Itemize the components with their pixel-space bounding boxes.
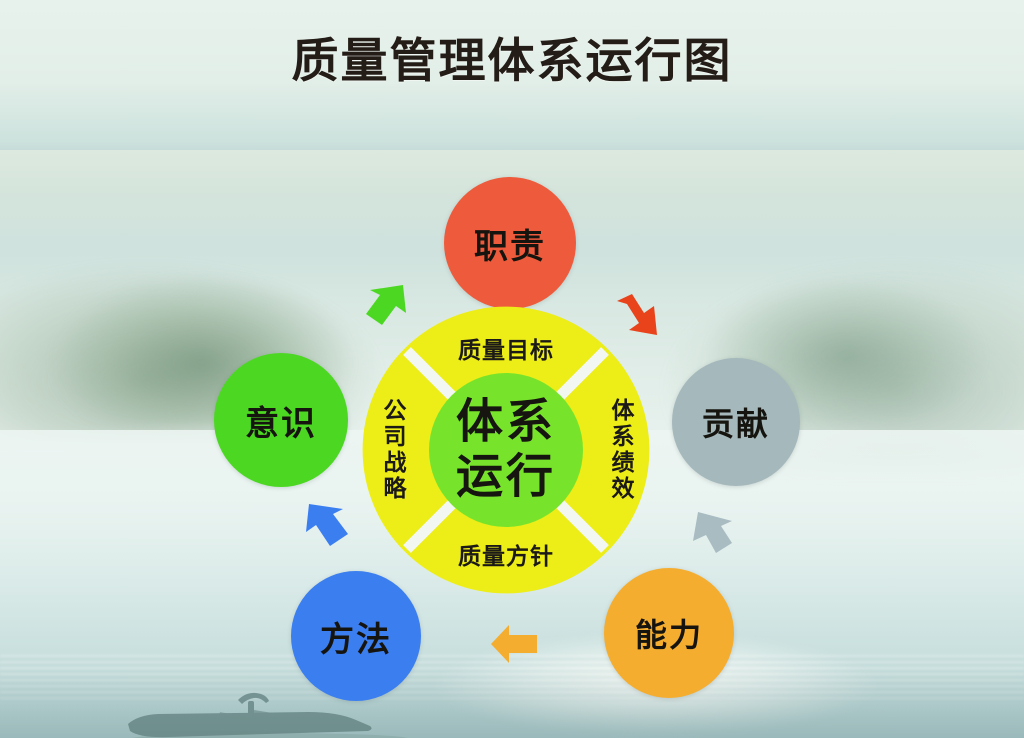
arrow-gray-down-left xyxy=(688,504,744,558)
ring-label-top: 质量目标 xyxy=(357,331,655,365)
node-zhize-label: 职责 xyxy=(474,219,546,268)
page-title: 质量管理体系运行图 xyxy=(0,37,1024,86)
node-gongxian[interactable]: 贡献 xyxy=(672,358,800,486)
ring-label-left: 公司战略 xyxy=(375,398,409,502)
node-zhize[interactable]: 职责 xyxy=(444,177,576,309)
ring-label-right: 体系绩效 xyxy=(603,398,637,502)
core-label-line2: 运行 xyxy=(456,450,556,505)
arrow-blue-up-left xyxy=(298,500,354,556)
node-yishi-label: 意识 xyxy=(245,396,317,445)
node-fangfa-label: 方法 xyxy=(320,612,392,661)
slide-canvas: 质量管理体系运行图 职责 贡献 能力 方法 xyxy=(0,0,1024,738)
node-nengli-label: 能力 xyxy=(635,610,703,656)
node-yishi[interactable]: 意识 xyxy=(214,353,348,487)
central-wheel: 质量目标 体系绩效 质量方针 公司战略 体系 运行 xyxy=(357,301,655,599)
ring-label-bottom: 质量方针 xyxy=(357,537,655,571)
arrow-orange-left xyxy=(489,621,541,667)
background-hill-left-near xyxy=(40,175,400,425)
core-label-line1: 体系 xyxy=(456,395,556,450)
boat-silhouette xyxy=(120,684,450,738)
node-gongxian-label: 贡献 xyxy=(702,399,770,445)
core-label: 体系 运行 xyxy=(456,395,556,506)
